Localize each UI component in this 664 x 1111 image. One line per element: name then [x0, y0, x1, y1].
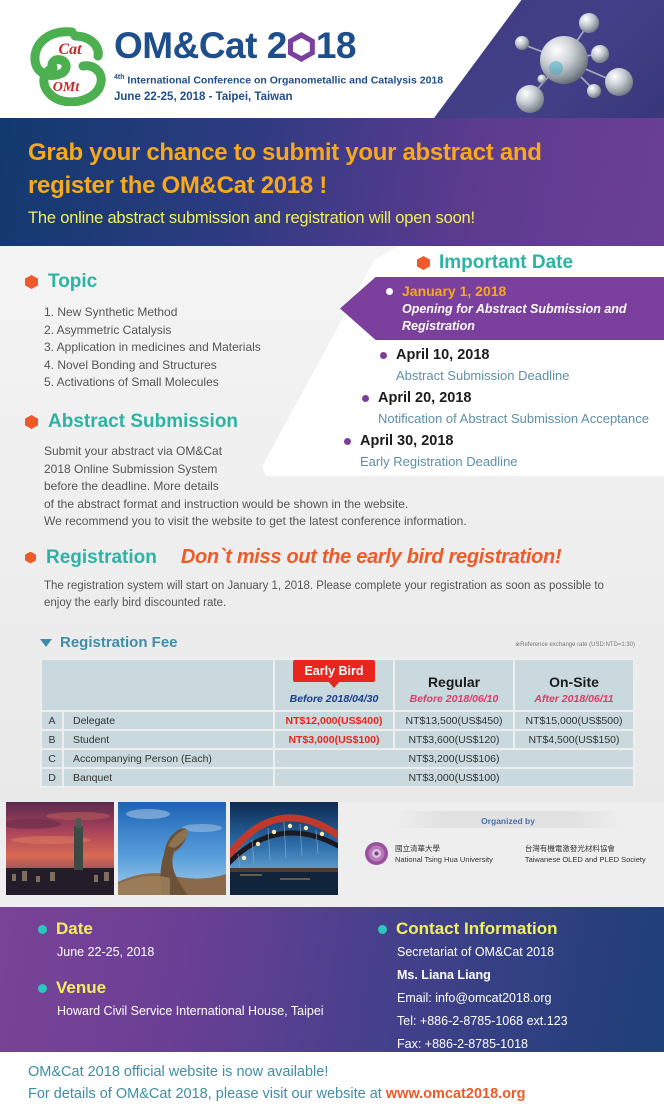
brand-title-post: 18	[316, 25, 356, 66]
contact-title: Contact Information	[396, 919, 558, 939]
important-date-highlight: January 1, 2018 Opening for Abstract Sub…	[340, 277, 664, 340]
contact-tel: Tel: +886-2-8785-1068 ext.123	[397, 1012, 658, 1031]
highlight-bullet-icon	[386, 288, 393, 295]
hero-headline-line1: Grab your chance to submit your abstract…	[28, 136, 664, 169]
event-details-block: Date June 22-25, 2018 Venue Howard Civil…	[38, 919, 368, 1021]
hero-subtext: The online abstract submission and regis…	[28, 209, 664, 228]
highlight-description: Opening for Abstract Submission and Regi…	[402, 301, 652, 335]
fee-header-row: Registration Fee ※Reference exchange rat…	[40, 634, 635, 651]
row-price-merged: NT$3,000(US$100)	[274, 768, 634, 787]
abstract-line: before the deadline. More details	[44, 478, 467, 496]
secretariat-line: Secretariat of OM&Cat 2018	[397, 943, 658, 962]
nthu-seal-icon	[364, 841, 389, 866]
abstract-line: Submit your abstract via OM&Cat	[44, 443, 467, 461]
brand-block: OM&Cat 218 4th International Conference …	[114, 24, 443, 105]
venue-heading: Venue	[38, 978, 368, 998]
highlight-date: January 1, 2018	[402, 283, 506, 299]
row-letter: C	[41, 749, 63, 768]
organized-by-text: Organized by	[481, 816, 535, 826]
svg-text:OMt: OMt	[53, 80, 81, 95]
photo-gallery	[6, 802, 338, 895]
row-label: Delegate	[63, 711, 274, 730]
registration-line: The registration system will start on Ja…	[44, 578, 645, 595]
row-price-merged: NT$3,200(US$106)	[274, 749, 634, 768]
date-bullet-icon	[362, 395, 369, 402]
abstract-submission-body: Submit your abstract via OM&Cat 2018 Onl…	[44, 443, 467, 531]
row-price-onsite: NT$4,500(US$150)	[514, 730, 634, 749]
molecule-graphic-icon	[486, 2, 656, 118]
subtitle-text: International Conference on Organometall…	[125, 75, 444, 87]
organizer-item: 台灣有機電激發光材料協會 Taiwanese OLED and PLED Soc…	[525, 841, 646, 866]
registration-heading: Registration	[25, 547, 157, 569]
conference-date-location: June 22-25, 2018 - Taipei, Taiwan	[114, 89, 443, 105]
regular-subtitle: Before 2018/06/10	[395, 693, 513, 705]
list-item: 3. Application in medicines and Material…	[44, 339, 261, 357]
row-letter: D	[41, 768, 63, 787]
contact-email[interactable]: Email: info@omcat2018.org	[397, 989, 658, 1008]
organizer-name-cn: 國立清華大學	[395, 843, 493, 854]
organizer-name-cn: 台灣有機電激發光材料協會	[525, 843, 646, 854]
registration-body: The registration system will start on Ja…	[44, 578, 645, 612]
registration-heading-row: Registration Don`t miss out the early bi…	[25, 546, 645, 569]
list-item: 5. Activations of Small Molecules	[44, 374, 261, 392]
footer-line-1: OM&Cat 2018 official website is now avai…	[28, 1061, 664, 1083]
circle-bullet-icon	[38, 925, 47, 934]
organizer-logos: 國立清華大學 National Tsing Hua University 台灣有…	[358, 841, 658, 866]
hero-headline-line2: register the OM&Cat 2018 !	[28, 169, 664, 202]
abstract-submission-title: Abstract Submission	[48, 411, 238, 433]
footer-line-2: For details of OM&Cat 2018, please visit…	[28, 1083, 664, 1105]
list-item: 4. Novel Bonding and Structures	[44, 357, 261, 375]
abstract-submission-heading: Abstract Submission	[25, 411, 467, 433]
list-item: 1. New Synthetic Method	[44, 304, 261, 322]
circle-bullet-icon	[38, 984, 47, 993]
organizer-section: Organized by 國立清華大學 National Tsing Hua U…	[358, 811, 658, 866]
row-label: Banquet	[63, 768, 274, 787]
poster-footer: OM&Cat 2018 official website is now avai…	[0, 1052, 664, 1111]
onsite-title: On-Site	[515, 674, 633, 690]
hexagon-bullet-icon	[25, 415, 38, 429]
date-item-desc: Abstract Submission Deadline	[396, 366, 569, 385]
omcat-swirl-logo-icon: Cat OMt	[28, 26, 112, 106]
abstract-line: of the abstract format and instruction w…	[44, 496, 467, 514]
regular-title: Regular	[395, 674, 513, 690]
chevron-down-icon[interactable]	[40, 639, 52, 647]
svg-text:Cat: Cat	[58, 41, 82, 58]
date-heading: Date	[38, 919, 368, 939]
important-date-heading: Important Date	[417, 252, 573, 274]
abstract-submission-section: Abstract Submission Submit your abstract…	[25, 411, 467, 531]
fee-table-title: Registration Fee	[60, 634, 178, 651]
row-letter: B	[41, 730, 63, 749]
hero-banner: Grab your chance to submit your abstract…	[0, 118, 664, 246]
table-row: C Accompanying Person (Each) NT$3,200(US…	[41, 749, 634, 768]
row-label: Student	[63, 730, 274, 749]
organized-by-label: Organized by	[393, 811, 623, 828]
website-url[interactable]: www.omcat2018.org	[386, 1086, 526, 1102]
queens-head-rock-photo	[118, 802, 226, 895]
header-cell-regular: Regular Before 2018/06/10	[394, 659, 514, 711]
registration-section: Registration Don`t miss out the early bi…	[25, 546, 645, 612]
row-price-early: NT$3,000(US$100)	[274, 730, 394, 749]
early-bird-slogan: Don`t miss out the early bird registrati…	[181, 546, 561, 569]
topic-list: 1. New Synthetic Method 2. Asymmetric Ca…	[44, 304, 261, 392]
hexagon-zero-icon	[288, 32, 315, 62]
header-cell-early-bird: Early Bird Before 2018/04/30	[274, 659, 394, 711]
exchange-rate-note: ※Reference exchange rate (USD:NTD=1:30)	[515, 641, 635, 651]
brand-title-pre: OM&Cat 2	[114, 25, 287, 66]
poster-body: Important Date January 1, 2018 Opening f…	[0, 246, 664, 802]
contact-person: Ms. Liana Liang	[397, 966, 658, 985]
footer-line-2-text: For details of OM&Cat 2018, please visit…	[28, 1086, 386, 1102]
registration-title: Registration	[46, 547, 157, 569]
topic-section: Topic 1. New Synthetic Method 2. Asymmet…	[25, 271, 261, 392]
list-item: 2. Asymmetric Catalysis	[44, 322, 261, 340]
conference-title: OM&Cat 218	[114, 24, 443, 68]
date-item-title: April 20, 2018	[378, 389, 649, 408]
date-value: June 22-25, 2018	[57, 943, 368, 962]
organizer-name-en: Taiwanese OLED and PLED Society	[525, 854, 646, 865]
circle-bullet-icon	[378, 925, 387, 934]
row-price-regular: NT$13,500(US$450)	[394, 711, 514, 730]
date-title: Date	[56, 919, 93, 939]
header-cell-onsite: On-Site After 2018/06/11	[514, 659, 634, 711]
venue-title: Venue	[56, 978, 106, 998]
important-date-title: Important Date	[439, 252, 573, 274]
organizer-name-en: National Tsing Hua University	[395, 854, 493, 865]
conference-subtitle: 4th International Conference on Organome…	[114, 70, 443, 89]
row-letter: A	[41, 711, 63, 730]
registration-fee-table: Early Bird Before 2018/04/30 Regular Bef…	[40, 658, 635, 788]
hexagon-bullet-icon	[417, 256, 430, 270]
header-cell-blank	[41, 659, 274, 711]
row-price-regular: NT$3,600(US$120)	[394, 730, 514, 749]
contact-bar: Date June 22-25, 2018 Venue Howard Civil…	[0, 907, 664, 1052]
table-row: A Delegate NT$12,000(US$400) NT$13,500(U…	[41, 711, 634, 730]
contact-info-block: Contact Information Secretariat of OM&Ca…	[378, 919, 658, 1052]
photo-organizer-strip: Organized by 國立清華大學 National Tsing Hua U…	[0, 802, 664, 907]
row-label: Accompanying Person (Each)	[63, 749, 274, 768]
table-row: B Student NT$3,000(US$100) NT$3,600(US$1…	[41, 730, 634, 749]
early-bird-subtitle: Before 2018/04/30	[275, 693, 393, 705]
row-price-onsite: NT$15,000(US$500)	[514, 711, 634, 730]
contact-fax: Fax: +886-2-8785-1018	[397, 1035, 658, 1052]
table-header-row: Early Bird Before 2018/04/30 Regular Bef…	[41, 659, 634, 711]
venue-value: Howard Civil Service International House…	[57, 1002, 368, 1021]
registration-line: enjoy the early bird discounted rate.	[44, 595, 645, 612]
date-item-title: April 10, 2018	[396, 346, 569, 365]
registration-fee-block: Registration Fee ※Reference exchange rat…	[40, 634, 635, 788]
abstract-line: We recommend you to visit the website to…	[44, 513, 467, 531]
poster-header: Cat OMt OM&Cat 218 4th International Con…	[0, 0, 664, 118]
hexagon-bullet-icon	[25, 275, 38, 289]
hexagon-bullet-icon	[25, 552, 36, 564]
onsite-subtitle: After 2018/06/11	[515, 693, 633, 705]
rainbow-bridge-photo	[230, 802, 338, 895]
early-bird-badge: Early Bird	[293, 660, 374, 682]
fee-title-group[interactable]: Registration Fee	[40, 634, 178, 651]
abstract-line: 2018 Online Submission System	[44, 461, 467, 479]
topic-title: Topic	[48, 271, 97, 293]
date-bullet-icon	[380, 352, 387, 359]
ordinal-superscript: 4th	[114, 74, 125, 81]
topic-heading: Topic	[25, 271, 261, 293]
taipei-101-sunset-photo	[6, 802, 114, 895]
contact-heading: Contact Information	[378, 919, 658, 939]
table-row: D Banquet NT$3,000(US$100)	[41, 768, 634, 787]
date-item: April 10, 2018 Abstract Submission Deadl…	[380, 346, 569, 385]
poster-root: Cat OMt OM&Cat 218 4th International Con…	[0, 0, 664, 1111]
organizer-item: 國立清華大學 National Tsing Hua University	[364, 841, 493, 866]
row-price-early: NT$12,000(US$400)	[274, 711, 394, 730]
